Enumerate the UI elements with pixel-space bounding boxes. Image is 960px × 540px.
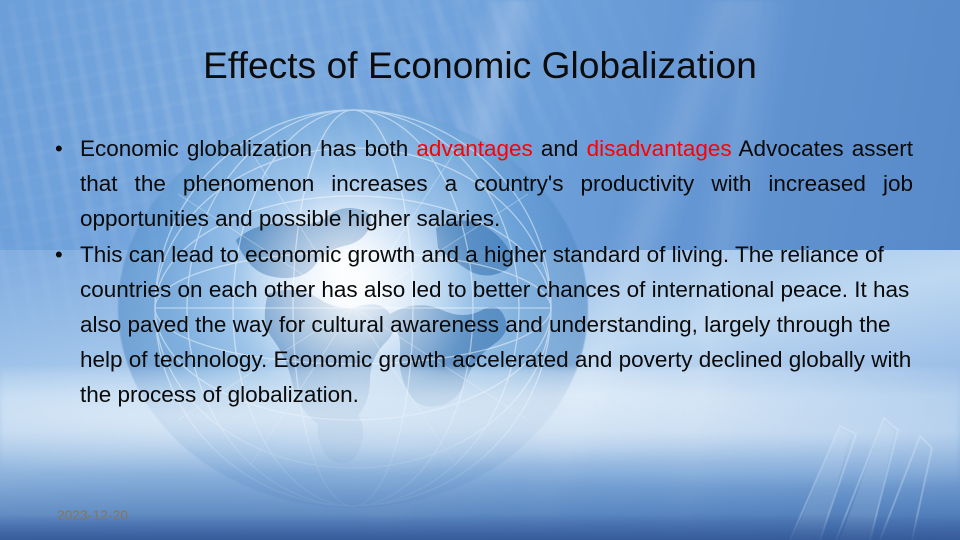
bullet-item-1: Economic globalization has both advantag… — [47, 131, 913, 236]
bullet-1-part2: and — [533, 136, 587, 161]
bullet-1-part1: Economic globalization has both — [80, 136, 416, 161]
slide-canvas: Effects of Economic Globalization Econom… — [0, 0, 960, 540]
bullet-item-2: This can lead to economic growth and a h… — [47, 237, 913, 412]
slide-content: Effects of Economic Globalization Econom… — [0, 0, 960, 540]
bullet-2-text: This can lead to economic growth and a h… — [80, 242, 911, 407]
bullet-1-highlight-advantages: advantages — [416, 136, 532, 161]
page-title: Effects of Economic Globalization — [0, 44, 960, 88]
date-stamp: 2023-12-20 — [57, 508, 128, 524]
bullet-1-highlight-disadvantages: disadvantages — [587, 136, 732, 161]
body-text-block: Economic globalization has both advantag… — [47, 131, 913, 412]
